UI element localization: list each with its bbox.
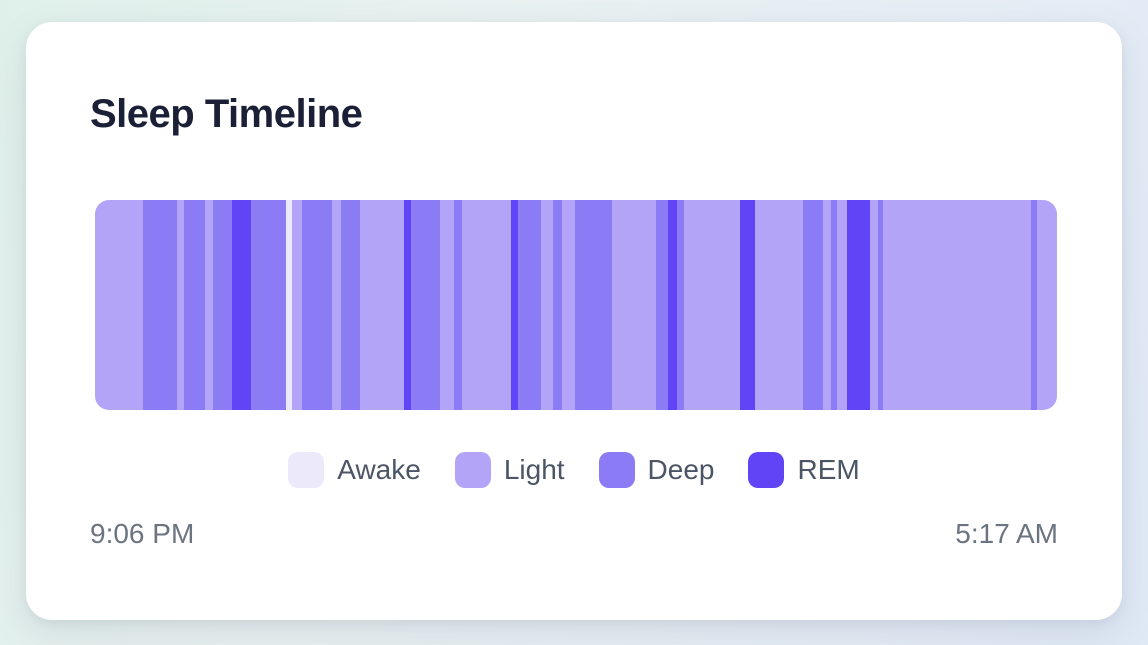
timeline-time-range: 9:06 PM 5:17 AM (90, 520, 1058, 548)
timeline-segment-light[interactable] (440, 200, 453, 410)
timeline-segment-light[interactable] (292, 200, 302, 410)
timeline-segment-light[interactable] (360, 200, 404, 410)
timeline-segment-light[interactable] (612, 200, 656, 410)
sleep-timeline-card: Sleep Timeline AwakeLightDeepREM 9:06 PM… (26, 22, 1122, 620)
timeline-segment-deep[interactable] (302, 200, 333, 410)
timeline-segment-rem[interactable] (668, 200, 677, 410)
timeline-segment-light[interactable] (541, 200, 553, 410)
timeline-segment-deep[interactable] (143, 200, 176, 410)
timeline-segment-rem[interactable] (740, 200, 755, 410)
timeline-segment-light[interactable] (462, 200, 511, 410)
timeline-segment-rem[interactable] (404, 200, 412, 410)
legend-label-awake: Awake (337, 456, 421, 484)
timeline-segment-deep[interactable] (454, 200, 462, 410)
timeline-segment-light[interactable] (883, 200, 1031, 410)
legend-item-deep[interactable]: Deep (599, 452, 715, 488)
timeline-segment-light[interactable] (562, 200, 575, 410)
timeline-segment-deep[interactable] (518, 200, 541, 410)
timeline-segment-deep[interactable] (677, 200, 684, 410)
timeline-segment-deep[interactable] (411, 200, 440, 410)
timeline-segment-light[interactable] (823, 200, 831, 410)
timeline-segment-light[interactable] (205, 200, 213, 410)
legend-swatch-awake (288, 452, 324, 488)
timeline-segment-rem[interactable] (511, 200, 518, 410)
legend-label-deep: Deep (648, 456, 715, 484)
legend-swatch-deep (599, 452, 635, 488)
timeline-segment-light[interactable] (177, 200, 184, 410)
sleep-timeline-chart[interactable] (95, 200, 1057, 410)
timeline-segment-light[interactable] (332, 200, 341, 410)
timeline-segment-light[interactable] (837, 200, 847, 410)
legend-swatch-rem (748, 452, 784, 488)
timeline-bar[interactable] (95, 200, 1057, 410)
timeline-segment-light[interactable] (870, 200, 878, 410)
start-time-label: 9:06 PM (90, 520, 194, 548)
legend-label-rem: REM (797, 456, 859, 484)
timeline-segment-deep[interactable] (213, 200, 232, 410)
legend-item-rem[interactable]: REM (748, 452, 859, 488)
legend-label-light: Light (504, 456, 565, 484)
timeline-segment-light[interactable] (755, 200, 803, 410)
timeline-segment-light[interactable] (95, 200, 143, 410)
chart-legend: AwakeLightDeepREM (26, 452, 1122, 488)
timeline-segment-deep[interactable] (184, 200, 205, 410)
legend-item-awake[interactable]: Awake (288, 452, 421, 488)
timeline-segment-deep[interactable] (656, 200, 668, 410)
timeline-segment-light[interactable] (684, 200, 740, 410)
end-time-label: 5:17 AM (955, 520, 1058, 548)
legend-item-light[interactable]: Light (455, 452, 565, 488)
timeline-segment-deep[interactable] (553, 200, 562, 410)
timeline-segment-light[interactable] (1037, 200, 1056, 410)
timeline-segment-deep[interactable] (341, 200, 359, 410)
legend-swatch-light (455, 452, 491, 488)
page-title: Sleep Timeline (90, 94, 362, 134)
timeline-segment-deep[interactable] (251, 200, 286, 410)
timeline-segment-deep[interactable] (575, 200, 612, 410)
timeline-segment-rem[interactable] (232, 200, 250, 410)
timeline-segment-deep[interactable] (803, 200, 822, 410)
timeline-segment-rem[interactable] (847, 200, 871, 410)
